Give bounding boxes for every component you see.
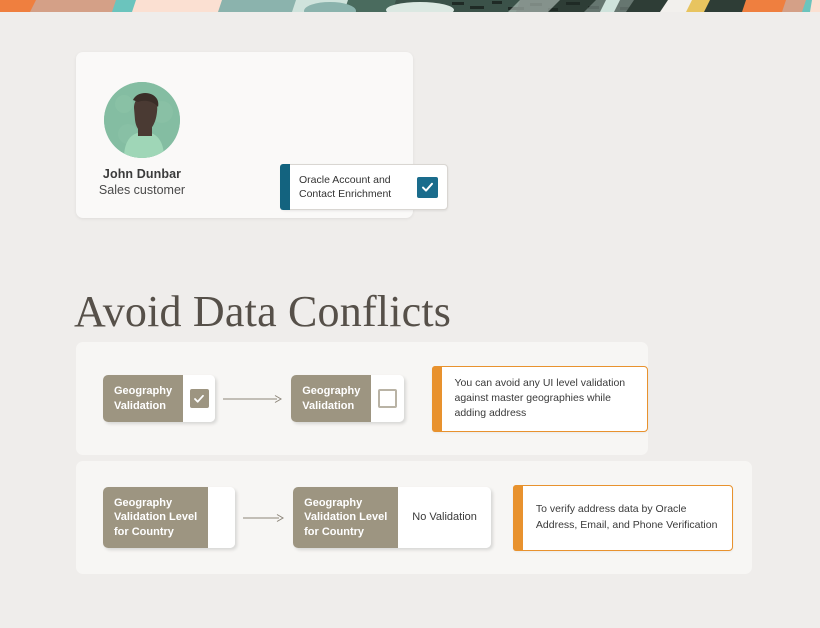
page-title: Avoid Data Conflicts xyxy=(74,286,451,337)
field-value[interactable] xyxy=(183,375,215,422)
field-label: Geography Validation Level for Country xyxy=(293,487,398,549)
flow-panel-1: Geography Validation Geography xyxy=(76,342,648,455)
field-value[interactable] xyxy=(371,375,403,422)
field-geography-validation-before[interactable]: Geography Validation xyxy=(103,375,215,422)
flow-panel-2: Geography Validation Level for Country G… xyxy=(76,461,752,574)
field-value[interactable]: No Validation xyxy=(398,487,491,549)
field-label: Geography Validation xyxy=(291,375,371,422)
profile-name: John Dunbar xyxy=(98,167,186,181)
callout-accent-bar xyxy=(432,366,442,432)
empty-checkbox-icon[interactable] xyxy=(378,389,397,408)
field-geography-validation-after[interactable]: Geography Validation xyxy=(291,375,403,422)
field-geo-validation-level-before[interactable]: Geography Validation Level for Country xyxy=(103,487,235,549)
page-root: John Dunbar Sales customer Oracle Accoun… xyxy=(0,0,820,628)
decorative-pattern-banner xyxy=(0,0,820,12)
field-value-text: No Validation xyxy=(398,511,491,523)
field-geo-validation-level-after[interactable]: Geography Validation Level for Country N… xyxy=(293,487,491,549)
callout-accent-bar xyxy=(280,164,290,210)
profile-content: John Dunbar Sales customer xyxy=(98,82,186,197)
arrow-right-icon xyxy=(243,512,285,524)
flow-row: Geography Validation Geography xyxy=(76,342,648,455)
field-label: Geography Validation Level for Country xyxy=(103,487,208,549)
callout-text: You can avoid any UI level validation ag… xyxy=(455,376,636,422)
arrow-right-icon xyxy=(223,393,283,405)
oracle-enrichment-label: Oracle Account and Contact Enrichment xyxy=(299,173,407,201)
checkmark-icon[interactable] xyxy=(417,177,438,198)
callout-text: To verify address data by Oracle Address… xyxy=(536,502,720,532)
field-value[interactable] xyxy=(208,487,235,549)
callout-accent-bar xyxy=(513,485,523,551)
profile-role: Sales customer xyxy=(98,183,186,197)
callout-panel-1: You can avoid any UI level validation ag… xyxy=(432,366,649,432)
checkmark-icon[interactable] xyxy=(190,389,209,408)
profile-card: John Dunbar Sales customer Oracle Accoun… xyxy=(76,52,413,218)
oracle-enrichment-callout[interactable]: Oracle Account and Contact Enrichment xyxy=(281,164,448,210)
avatar-block: John Dunbar Sales customer xyxy=(98,82,186,197)
flow-row: Geography Validation Level for Country G… xyxy=(76,461,752,574)
callout-panel-2: To verify address data by Oracle Address… xyxy=(513,485,733,551)
avatar xyxy=(104,82,180,158)
field-label: Geography Validation xyxy=(103,375,183,422)
